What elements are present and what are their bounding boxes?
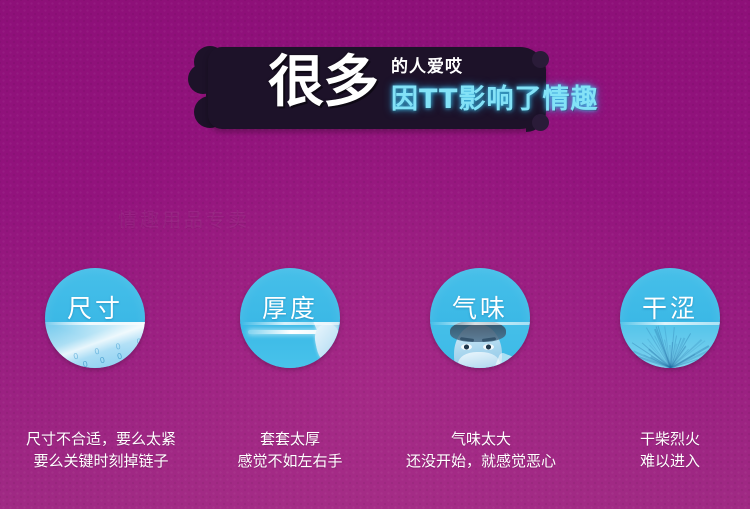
feature-label-smell: 气味 [430, 296, 530, 321]
feature-circle-smell[interactable]: 气味 [430, 268, 530, 368]
feature-circle-thickness[interactable]: 厚度 [240, 268, 340, 368]
feature-label-dryness: 干涩 [620, 296, 720, 321]
face-hair-shape [450, 322, 506, 342]
measuring-tape-icon: 0 0 0 0 0 0 0 0 0 0 0 0 [45, 322, 145, 368]
caption-smell-line-1: 气味太大 [388, 428, 574, 450]
caption-thickness-line-2: 感觉不如左右手 [202, 450, 378, 472]
thin-sheet-art [240, 322, 340, 368]
caption-size-line-1: 尺寸不合适，要么太紧 [8, 428, 194, 450]
background-watermark: 情趣用品专卖 [118, 205, 250, 232]
caption-dryness-line-2: 难以进入 [582, 450, 750, 472]
measuring-tape-art: 0 0 0 0 0 0 0 0 0 0 0 0 [45, 322, 145, 368]
headline-banner: 很多 的人爱哎 因TT影响了情趣 [186, 44, 566, 132]
promo-banner-page: 情趣用品专卖 很多 的人爱哎 因TT影响了情趣 尺寸 0 0 0 0 0 0 0… [0, 0, 750, 509]
feature-circle-dryness[interactable]: 干涩 [620, 268, 720, 368]
banner-subline-2: 因TT影响了情趣 [391, 85, 598, 115]
finger-shape-3 [312, 322, 340, 366]
banner-text-group: 很多 的人爱哎 因TT影响了情趣 [268, 51, 568, 131]
banner-headline: 很多 [268, 55, 378, 111]
feature-label-thickness: 厚度 [240, 296, 340, 321]
face-art [430, 322, 530, 368]
banner-subline-1: 的人爱哎 [391, 59, 463, 76]
dry-cracked-branches-icon [620, 322, 720, 368]
dry-branches-art [620, 322, 720, 368]
caption-thickness-line-1: 套套太厚 [202, 428, 378, 450]
pinching-nose-face-icon [430, 322, 530, 368]
caption-dryness-line-1: 干柴烈火 [582, 428, 750, 450]
fingers-thin-sheet-icon [240, 322, 340, 368]
face-hand-shape [458, 352, 500, 368]
banner-body: 很多 的人爱哎 因TT影响了情趣 [208, 47, 546, 129]
caption-smell-line-2: 还没开始，就感觉恶心 [388, 450, 574, 472]
caption-size-line-2: 要么关键时刻掉链子 [8, 450, 194, 472]
feature-circle-size[interactable]: 尺寸 0 0 0 0 0 0 0 0 0 0 0 0 [45, 268, 145, 368]
feature-label-size: 尺寸 [45, 296, 145, 321]
face-eye-right [483, 344, 494, 350]
face-eye-left [461, 344, 472, 350]
